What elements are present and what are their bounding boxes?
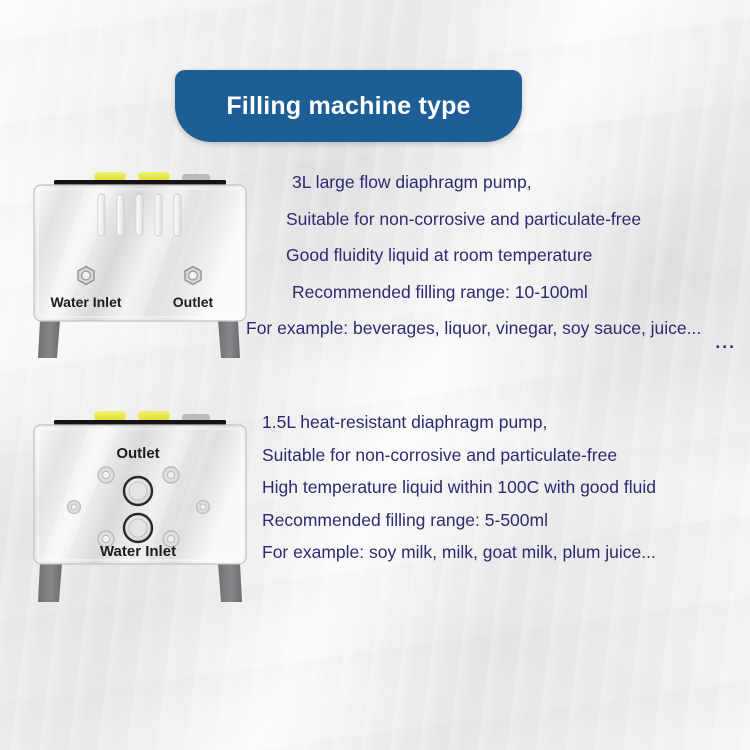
machine-label-outlet: Outlet: [173, 294, 214, 310]
machine-label-outlet: Outlet: [116, 445, 159, 462]
description-line: High temperature liquid within 100C with…: [262, 479, 742, 497]
description-line: 3L large flow diaphragm pump,: [262, 174, 742, 192]
description-line: 1.5L heat-resistant diaphragm pump,: [262, 414, 742, 432]
machine-legs: [38, 563, 242, 602]
machine-label-water-inlet: Water Inlet: [50, 294, 121, 310]
ellipsis-continuation: ...: [715, 332, 736, 353]
machine-legs: [38, 320, 240, 358]
description-line: Suitable for non-corrosive and particula…: [262, 211, 742, 229]
outlet-fitting: [185, 267, 201, 285]
page-title: Filling machine type: [226, 92, 470, 121]
description-line: For example: beverages, liquor, vinegar,…: [242, 320, 742, 338]
description-line: Recommended filling range: 5-500ml: [262, 512, 742, 530]
machine-illustration-3l: Water Inlet Outlet: [22, 168, 262, 368]
title-banner: Filling machine type: [175, 70, 522, 142]
infographic-page: Filling machine type: [0, 0, 750, 750]
product-description-1-5l: 1.5L heat-resistant diaphragm pump, Suit…: [262, 414, 742, 577]
description-line: Suitable for non-corrosive and particula…: [262, 447, 742, 465]
description-line: Good fluidity liquid at room temperature: [262, 247, 742, 265]
description-line: For example: soy milk, milk, goat milk, …: [262, 544, 742, 562]
product-description-3l: 3L large flow diaphragm pump, Suitable f…: [262, 174, 742, 357]
product-entry-3l: Water Inlet Outlet 3L large flow diaphra…: [0, 168, 750, 368]
machine-illustration-1-5l: Outlet: [22, 408, 262, 608]
outlet-port: [124, 477, 152, 505]
product-entry-1-5l: Outlet: [0, 408, 750, 608]
machine-label-water-inlet: Water Inlet: [100, 543, 176, 560]
water-inlet-fitting: [78, 267, 94, 285]
water-inlet-port: [124, 514, 152, 542]
description-line: Recommended filling range: 10-100ml: [262, 284, 742, 302]
